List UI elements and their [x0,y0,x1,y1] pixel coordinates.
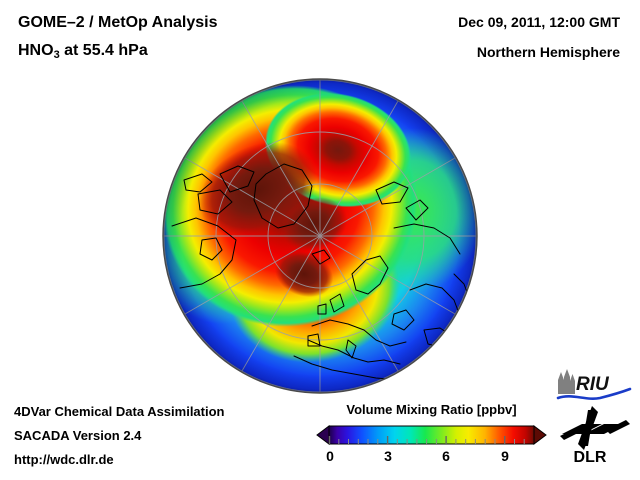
species-prefix: HNO [18,42,54,59]
colorbar-min-arrow [317,426,329,444]
colorbar-scale [314,424,549,448]
page-title: GOME–2 / MetOp Analysis [18,14,217,32]
species-pressure-label: HNO3 at 55.4 hPa [18,42,148,60]
riu-tower-icon [558,369,575,394]
colorbar: Volume Mixing Ratio [ppbv] [314,402,549,474]
timestamp-label: Dec 09, 2011, 12:00 GMT [458,14,620,30]
colorbar-tick-9: 9 [492,448,518,464]
hemisphere-label: Northern Hemisphere [477,44,620,60]
colorbar-gradient [329,426,534,444]
dlr-mark-icon [560,406,630,450]
colorbar-tick-3: 3 [375,448,401,464]
coastline-arabia [414,362,444,382]
dlr-logo: DLR [558,404,632,466]
colorbar-tick-6: 6 [433,448,459,464]
species-subscript: 3 [54,49,60,61]
orthographic-projection [162,78,478,394]
globe-map [162,78,478,394]
footer-line-url[interactable]: http://wdc.dlr.de [14,452,114,467]
pressure-level: at 55.4 hPa [60,42,148,59]
footer-line-version: SACADA Version 2.4 [14,428,141,443]
riu-logo: RIU [556,368,632,402]
colorbar-max-arrow [534,426,546,444]
colorbar-tick-0: 0 [317,448,343,464]
riu-wordmark: RIU [576,374,610,395]
footer-line-method: 4DVar Chemical Data Assimilation [14,404,225,419]
colorbar-title: Volume Mixing Ratio [ppbv] [314,402,549,417]
dlr-wordmark: DLR [574,449,607,466]
